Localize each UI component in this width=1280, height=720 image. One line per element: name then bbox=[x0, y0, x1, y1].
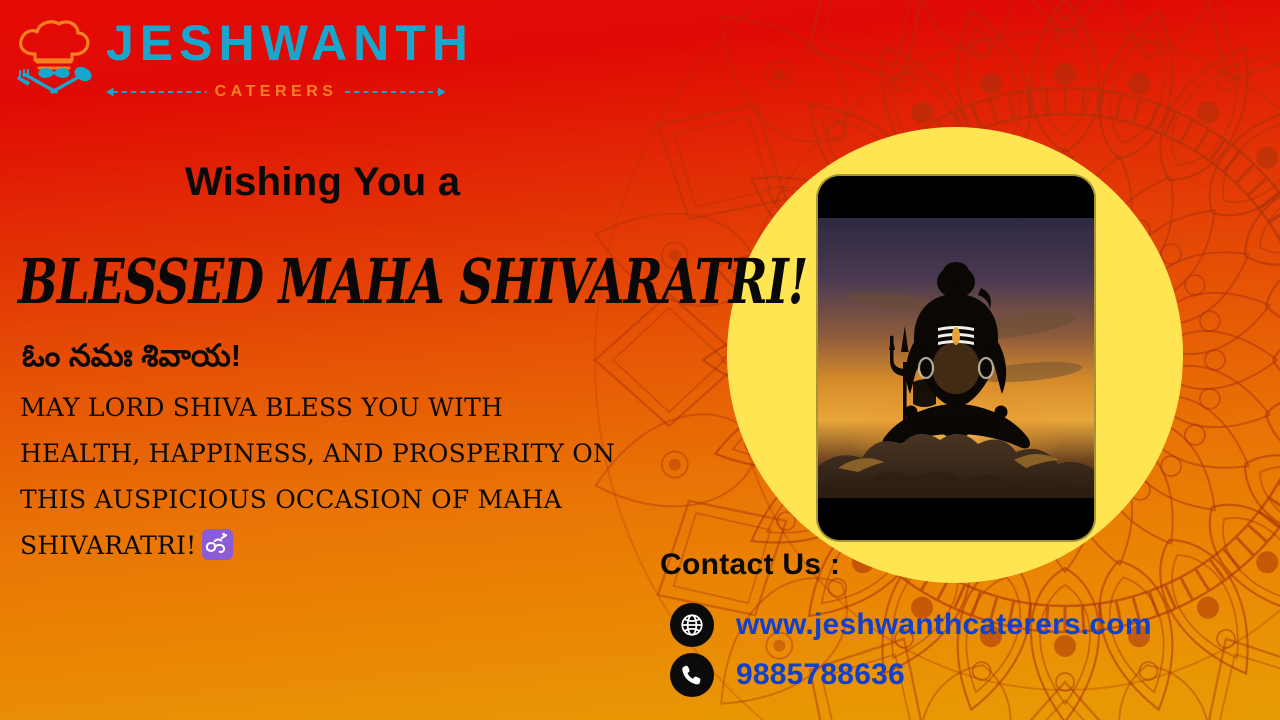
lord-shiva-image bbox=[818, 176, 1094, 540]
phone-icon bbox=[670, 653, 714, 697]
dashed-arrow-left-icon bbox=[106, 86, 207, 98]
blessing-message-text: MAY LORD SHIVA BLESS YOU WITH HEALTH, HA… bbox=[20, 393, 615, 560]
globe-icon bbox=[670, 603, 714, 647]
brand-tagline-row: CATERERS bbox=[106, 80, 446, 104]
page-title: BLESSED MAHA SHIVARATRI! bbox=[18, 246, 807, 319]
website-url[interactable]: www.jeshwanthcaterers.com bbox=[736, 608, 1152, 642]
contact-heading: Contact Us : bbox=[660, 548, 840, 582]
phone-number[interactable]: 9885788636 bbox=[736, 658, 905, 692]
brand-name: JESHWANTH bbox=[106, 12, 474, 74]
wish-line: Wishing You a bbox=[185, 160, 460, 205]
contact-website-row[interactable]: www.jeshwanthcaterers.com bbox=[670, 603, 1152, 647]
blessing-message: MAY LORD SHIVA BLESS YOU WITH HEALTH, HA… bbox=[20, 385, 620, 569]
brand-tagline: CATERERS bbox=[215, 83, 338, 101]
brand-logo[interactable]: JESHWANTH CATERERS bbox=[10, 8, 450, 108]
contact-phone-row[interactable]: 9885788636 bbox=[670, 653, 905, 697]
dashed-arrow-right-icon bbox=[345, 86, 446, 98]
chef-hat-mustache-cutlery-icon bbox=[10, 16, 96, 94]
om-symbol-emoji bbox=[202, 529, 233, 560]
mantra-text: ఓం నమః శివాయ! bbox=[22, 338, 241, 381]
shivaratri-greeting-poster: JESHWANTH CATERERS Wishing You a BLESSED… bbox=[0, 0, 1280, 720]
